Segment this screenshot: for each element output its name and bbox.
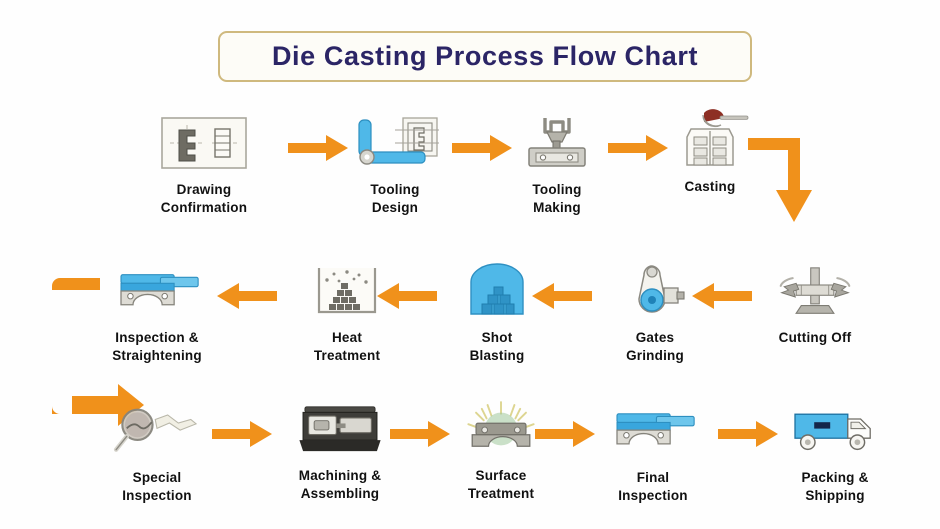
furnace-bin-icon [299,258,395,324]
step-cutting-off[interactable]: Cutting Off [740,258,890,347]
milling-machine-icon [509,110,605,176]
magnifier-inspection-icon [109,398,205,464]
step-packing-shipping[interactable]: Packing & Shipping [760,398,910,505]
ladle-pouring-mold-icon [662,107,758,173]
step-label: Final Inspection [618,469,688,505]
step-label: Heat Treatment [314,329,380,365]
shot-blast-chamber-icon [449,258,545,324]
flowchart-canvas: Die Casting Process Flow Chart Drawing C… [0,0,940,529]
step-tooling-design[interactable]: Tooling Design [320,110,470,217]
trim-press-icon [767,258,863,324]
step-label: Casting [685,178,736,196]
step-label: Tooling Making [532,181,581,217]
step-label: Shot Blasting [470,329,525,365]
step-heat-treatment[interactable]: Heat Treatment [272,258,422,365]
set-square-ruler-icon [347,110,443,176]
step-label: Gates Grinding [626,329,684,365]
step-shot-blasting[interactable]: Shot Blasting [422,258,572,365]
final-fixture-icon [605,398,701,464]
elbow-right-down-arrow [748,130,858,240]
step-label: Drawing Confirmation [161,181,247,217]
step-label: Tooling Design [370,181,419,217]
step-label: Packing & Shipping [801,469,868,505]
step-label: Surface Treatment [468,467,534,503]
step-label: Special Inspection [122,469,192,505]
page-title: Die Casting Process Flow Chart [272,41,698,72]
grinding-belt-icon [607,258,703,324]
step-special-inspection[interactable]: Special Inspection [82,398,232,505]
technical-drawing-icon [156,110,252,176]
delivery-truck-icon [787,398,883,464]
step-gates-grinding[interactable]: Gates Grinding [580,258,730,365]
step-drawing-confirmation[interactable]: Drawing Confirmation [129,110,279,217]
step-final-inspection[interactable]: Final Inspection [578,398,728,505]
step-label: Cutting Off [779,329,852,347]
chart-title-box: Die Casting Process Flow Chart [218,31,752,82]
step-label: Machining & Assembling [299,467,381,503]
cnc-lathe-icon [292,396,388,462]
